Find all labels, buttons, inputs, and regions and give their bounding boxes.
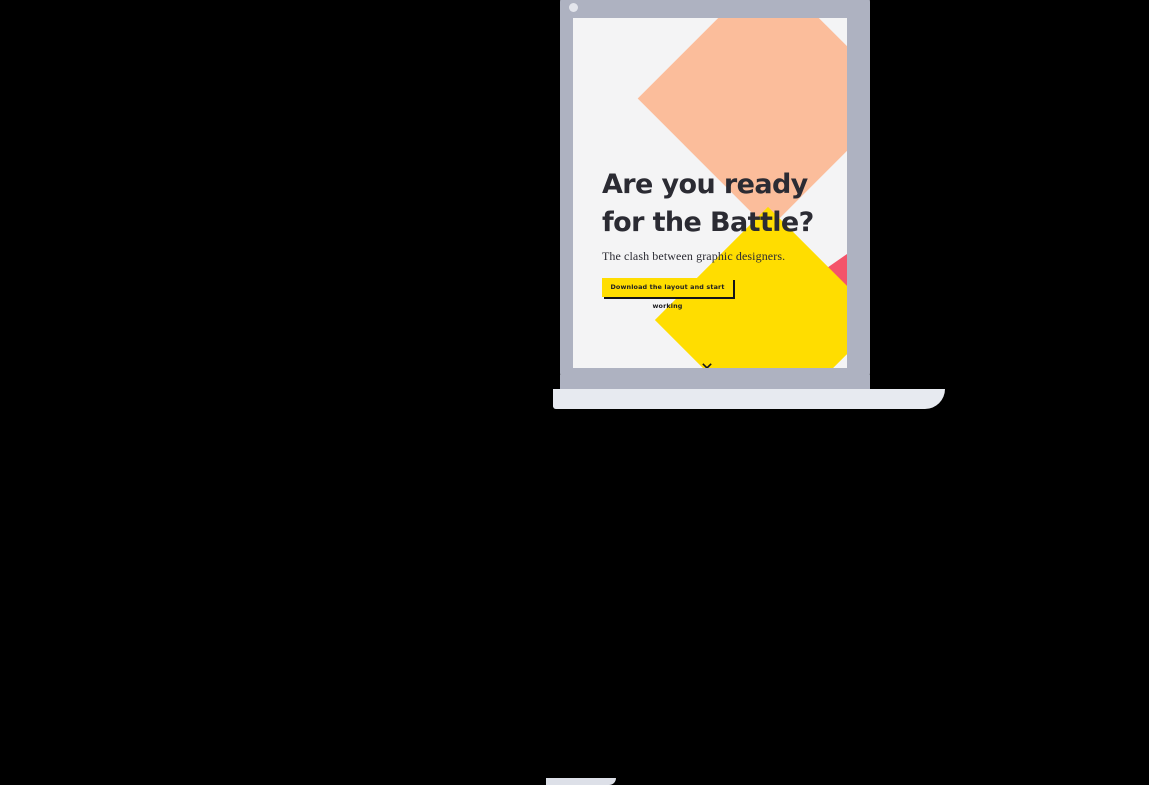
browser-screen: Are you ready for the Battle? The clash … [573, 18, 847, 368]
page-title: Are you ready for the Battle? [602, 166, 847, 243]
page-subtitle: The clash between graphic designers. [602, 243, 847, 265]
laptop-base-bottom [553, 389, 945, 409]
laptop-mockup: Are you ready for the Battle? The clash … [560, 0, 950, 400]
camera-dot-icon [569, 3, 578, 12]
download-layout-button[interactable]: Download the layout and start working [602, 278, 733, 297]
canvas-background: Are you ready for the Battle? The clash … [0, 0, 1149, 440]
cta-wrapper: Download the layout and start working [602, 278, 733, 297]
laptop-base-notch [546, 778, 616, 785]
chevron-down-icon[interactable] [701, 360, 713, 368]
hero-content: Are you ready for the Battle? The clash … [602, 166, 847, 297]
laptop-base-hinge [560, 375, 870, 389]
